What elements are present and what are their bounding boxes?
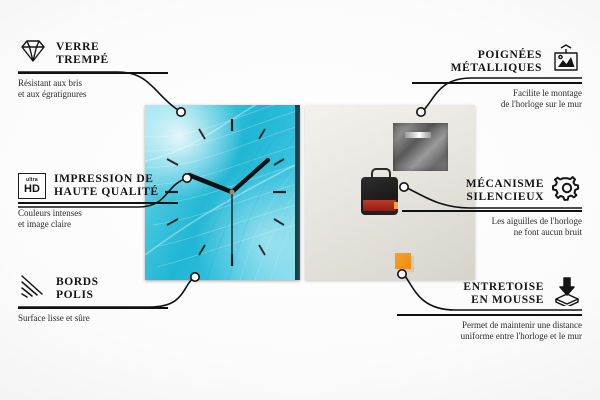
callout-desc-line2: uniforme entre l'horloge et le mur: [397, 331, 582, 342]
callout-desc-line1: Facilite le montage: [412, 88, 582, 99]
ultra-hd-top-text: ultra: [26, 178, 38, 183]
glass-edge: [295, 105, 300, 280]
framed-picture-icon: [550, 44, 582, 79]
callout-desc-line1: Permet de maintenir une distance: [397, 320, 582, 331]
callout-rule: [412, 82, 582, 84]
callout-desc-line1: Résistant aux bris: [18, 78, 168, 89]
foam-press-icon: [552, 276, 582, 311]
callout-title-line1: ENTRETOISE: [463, 281, 544, 294]
callout-desc-line1: Couleurs intenses: [18, 208, 178, 219]
callout-desc-line2: de l'horloge sur le mur: [412, 99, 582, 110]
ultra-hd-icon: ultra HD: [18, 173, 46, 199]
callout-title-line2: MÉTALLIQUES: [451, 62, 542, 75]
callout-title-line1: BORDS: [56, 276, 99, 289]
clock-hour-hand: [189, 175, 232, 192]
battery: [363, 200, 396, 211]
ultra-hd-bottom-text: HD: [24, 184, 40, 195]
callout-mecanisme-silencieux: MÉCANISME SILENCIEUX Les aiguilles de l'…: [402, 174, 582, 238]
callout-poignees-metalliques: POIGNÉES MÉTALLIQUES Facilite le montage…: [412, 44, 582, 110]
foam-spacer: [395, 253, 411, 269]
callout-entretoise-mousse: ENTRETOISE EN MOUSSE Permet de maintenir…: [397, 276, 582, 342]
callout-title-line1: MÉCANISME: [466, 178, 544, 191]
callout-desc-line2: ne font aucun bruit: [402, 227, 582, 238]
callout-title-line2: POLIS: [56, 289, 99, 302]
clock-center-cap: [230, 190, 235, 195]
callout-rule: [18, 72, 168, 74]
callout-bords-polis: BORDS POLIS Surface lisse et sûre: [18, 273, 168, 324]
callout-desc-line1: Les aiguilles de l'horloge: [402, 216, 582, 227]
callout-title-line2: HAUTE QUALITÉ: [54, 186, 159, 199]
callout-rule: [397, 314, 582, 316]
callout-desc-line2: et aux égratignures: [18, 89, 168, 100]
callout-title-line1: POIGNÉES: [451, 49, 542, 62]
callout-rule: [18, 202, 178, 204]
callout-verre-trempe: VERRE TREMPÉ Résistant aux bris et aux é…: [18, 38, 168, 100]
gear-icon: [552, 174, 582, 207]
callout-desc-line1: Surface lisse et sûre: [18, 313, 168, 324]
metal-hanger-plate: [393, 123, 448, 171]
callout-title-line2: EN MOUSSE: [463, 294, 544, 307]
callout-impression-hd: ultra HD IMPRESSION DE HAUTE QUALITÉ Cou…: [18, 173, 178, 230]
callout-desc-line2: et image claire: [18, 219, 178, 230]
infographic-canvas: VERRE TREMPÉ Résistant aux bris et aux é…: [0, 0, 600, 400]
diamond-icon: [18, 38, 48, 69]
callout-title-line2: TREMPÉ: [56, 54, 109, 67]
polished-edges-icon: [18, 273, 48, 304]
callout-title-line2: SILENCIEUX: [466, 191, 544, 204]
callout-title-line1: IMPRESSION DE: [54, 173, 159, 186]
callout-rule: [402, 210, 582, 212]
callout-rule: [18, 307, 168, 309]
callout-title-line1: VERRE: [56, 41, 109, 54]
clock-minute-hand: [232, 160, 268, 192]
